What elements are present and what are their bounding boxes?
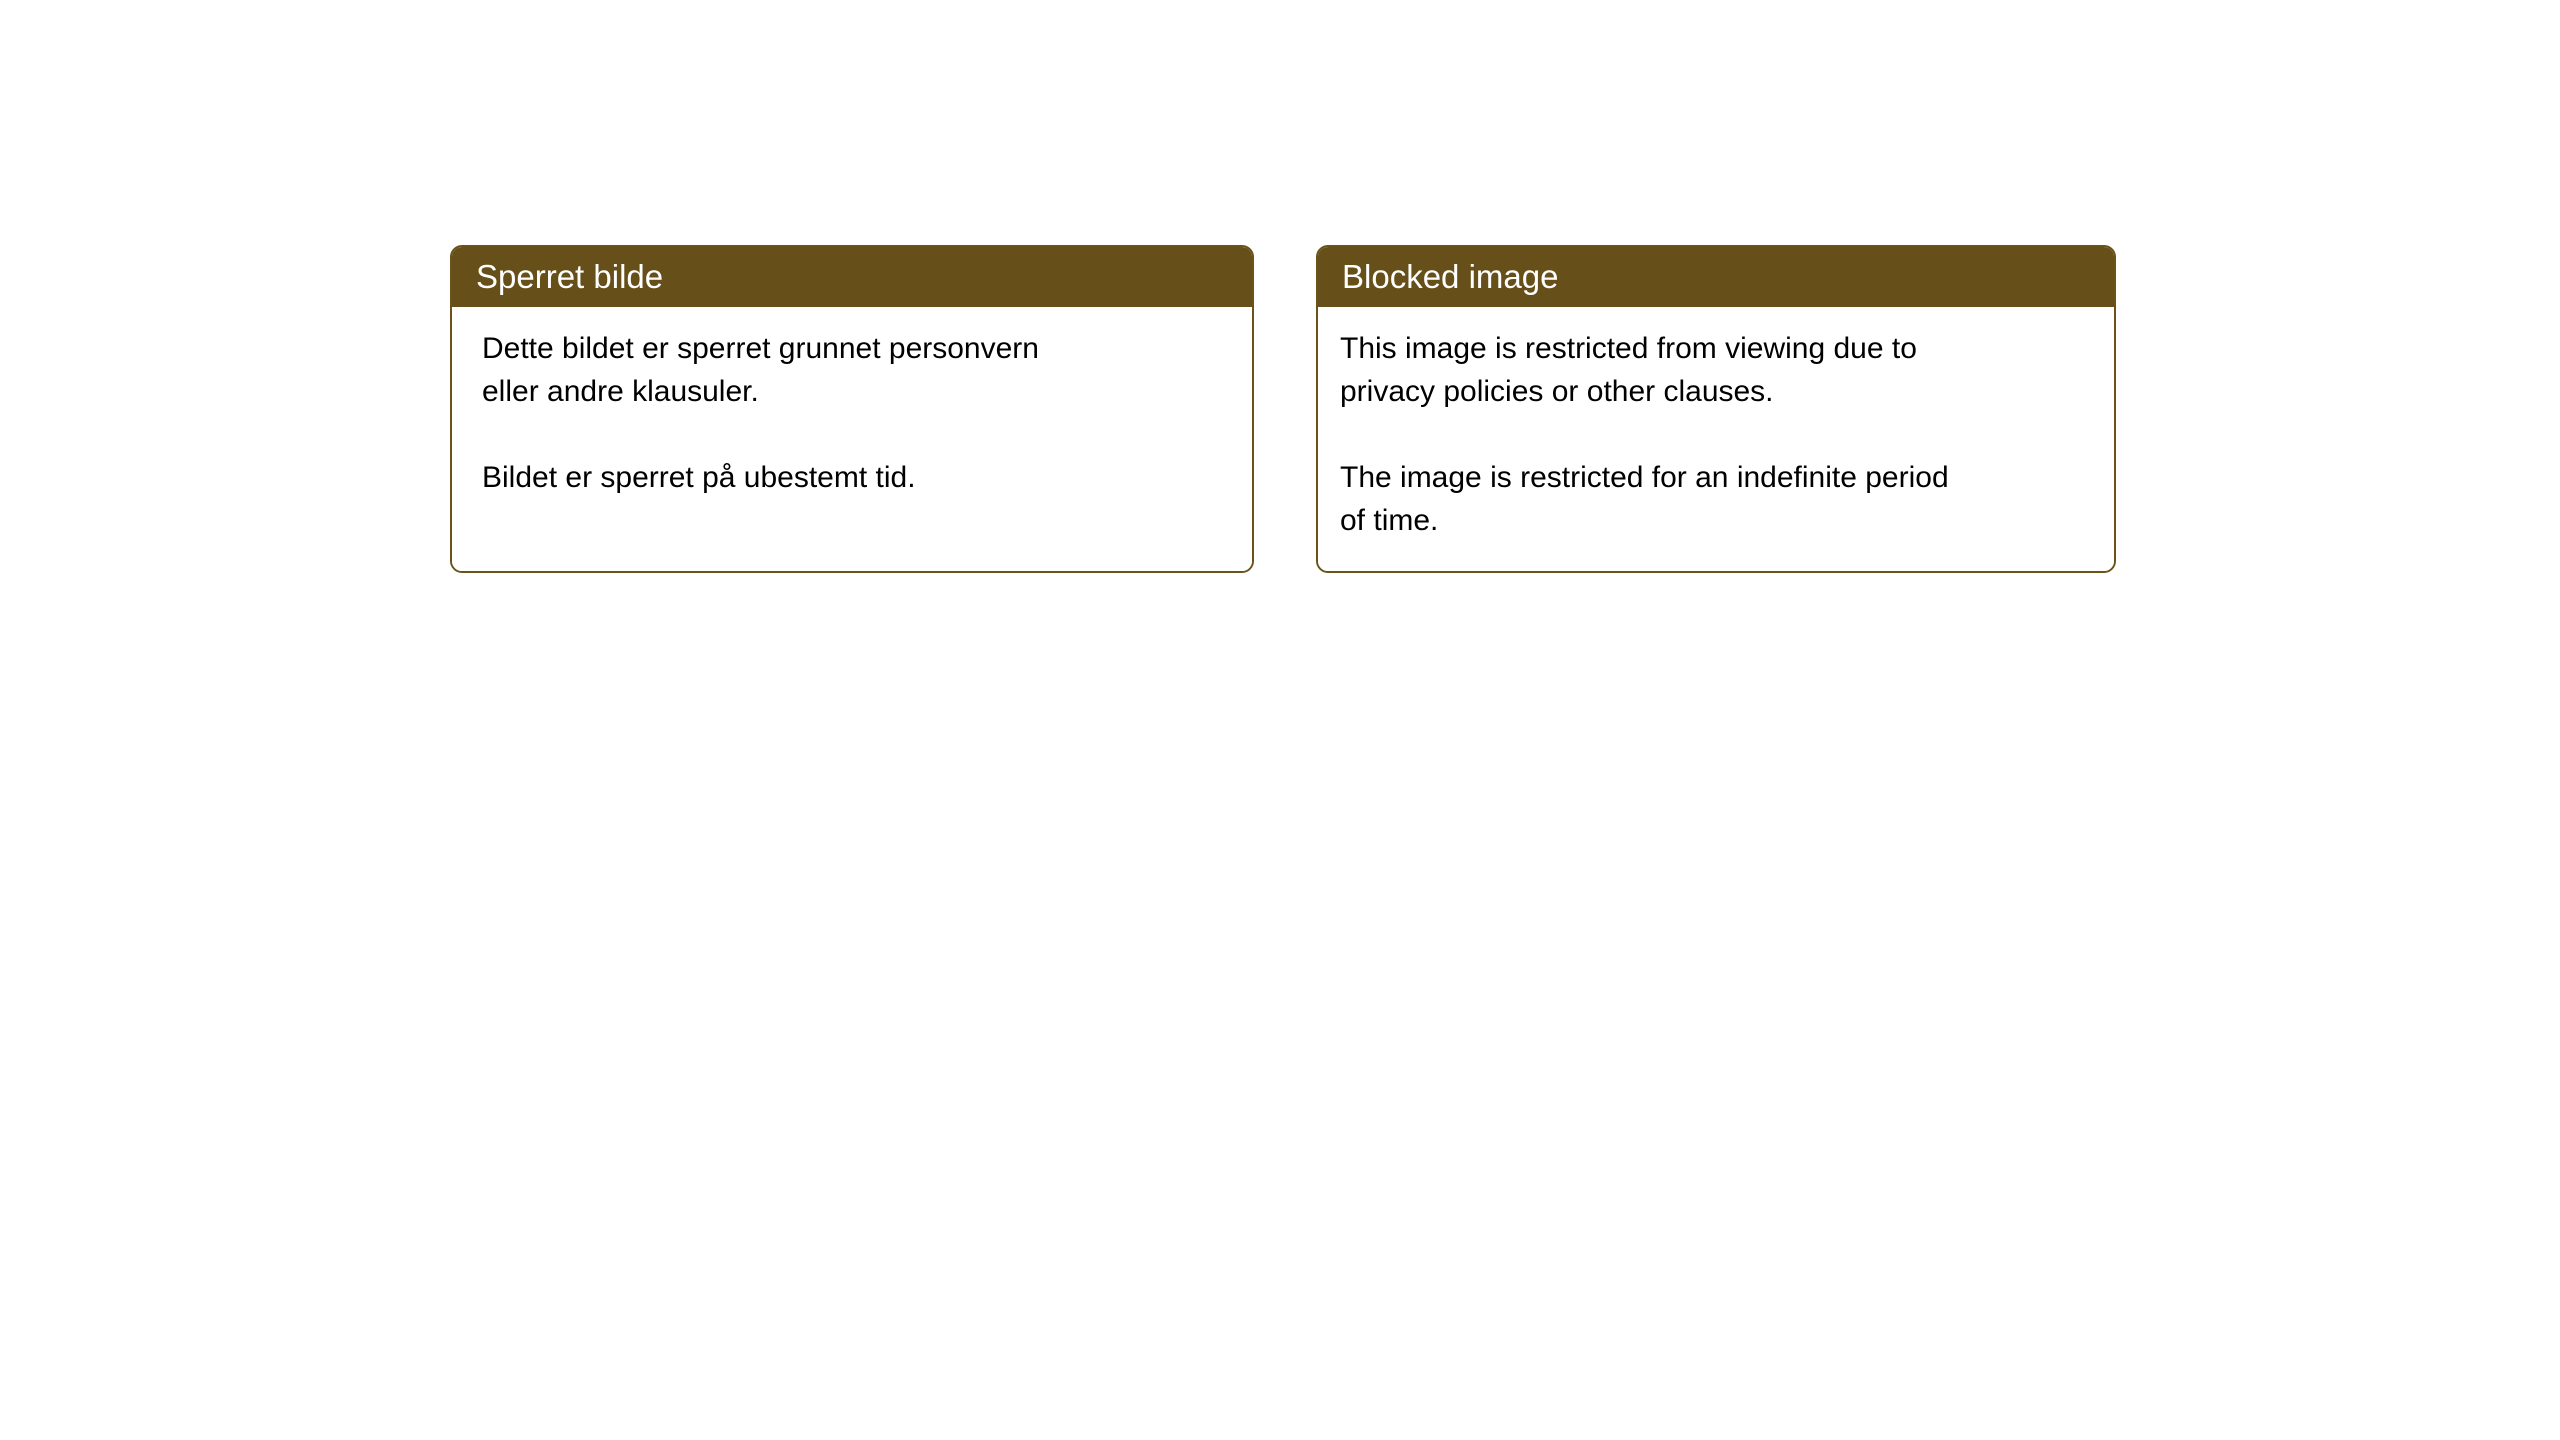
card-header-norwegian: Sperret bilde	[452, 247, 1252, 307]
blocked-image-card-english: Blocked image This image is restricted f…	[1316, 245, 2116, 573]
card-paragraph-reason-english: This image is restricted from viewing du…	[1340, 327, 2090, 413]
card-title-english: Blocked image	[1342, 257, 1558, 297]
card-paragraph-duration-norwegian: Bildet er sperret på ubestemt tid.	[482, 456, 1228, 499]
card-header-english: Blocked image	[1318, 247, 2114, 307]
card-body-norwegian: Dette bildet er sperret grunnet personve…	[452, 307, 1252, 571]
blocked-image-card-norwegian: Sperret bilde Dette bildet er sperret gr…	[450, 245, 1254, 573]
card-body-english: This image is restricted from viewing du…	[1318, 307, 2114, 571]
card-paragraph-duration-english: The image is restricted for an indefinit…	[1340, 456, 2090, 542]
card-title-norwegian: Sperret bilde	[476, 257, 663, 297]
page-canvas: Sperret bilde Dette bildet er sperret gr…	[0, 0, 2560, 1440]
card-paragraph-reason-norwegian: Dette bildet er sperret grunnet personve…	[482, 327, 1228, 413]
